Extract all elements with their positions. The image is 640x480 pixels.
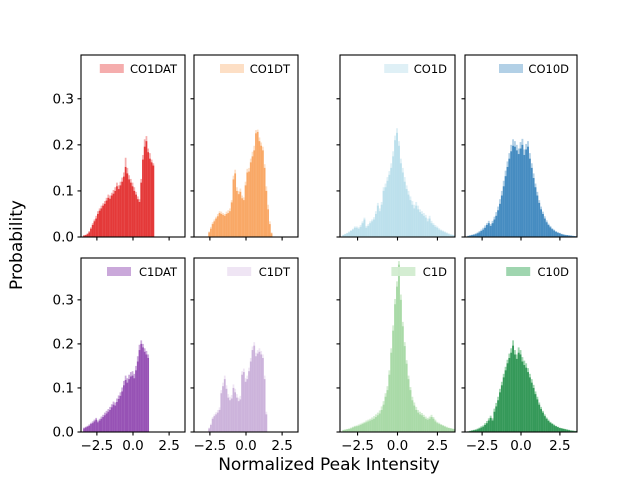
- histogram-bar: [548, 421, 550, 432]
- histogram-bar: [529, 159, 531, 237]
- histogram-bar: [381, 205, 383, 237]
- legend-swatch: [107, 267, 131, 276]
- histogram-bar: [266, 414, 268, 432]
- histogram-bar: [486, 225, 488, 237]
- histogram-bar: [507, 167, 509, 237]
- histogram-bar: [455, 236, 457, 237]
- histogram-bar: [255, 356, 257, 432]
- histogram-bar: [415, 410, 417, 432]
- histogram-bar: [527, 147, 529, 237]
- histogram-bar: [404, 182, 406, 237]
- histogram-bar: [356, 228, 358, 237]
- histogram-bar: [111, 196, 113, 237]
- histogram-bar: [238, 401, 240, 432]
- histogram-bar: [442, 231, 444, 237]
- legend-label: C1D: [423, 265, 447, 279]
- histogram-bar: [535, 394, 537, 432]
- histogram-bar: [538, 405, 540, 432]
- histogram-series-front: [342, 133, 457, 237]
- histogram-bar: [497, 210, 499, 237]
- histogram-bars: [342, 261, 457, 432]
- histogram-bar: [377, 206, 379, 237]
- histogram-bar: [557, 427, 559, 432]
- histogram-bar: [241, 375, 243, 432]
- histogram-bar: [151, 162, 153, 237]
- legend-label: C1DAT: [139, 265, 178, 279]
- x-tick-label: 2.5: [158, 438, 179, 454]
- x-tick-label: −2.5: [466, 438, 499, 454]
- histogram-bar: [413, 406, 415, 432]
- histogram-bar: [123, 177, 125, 237]
- histogram-series-front: [208, 346, 267, 432]
- histogram-bar: [259, 352, 261, 432]
- histogram-bar: [559, 428, 561, 432]
- histogram-bar: [425, 419, 427, 432]
- histogram-bar: [493, 412, 495, 432]
- histogram-series-front: [467, 145, 579, 237]
- histogram-bar: [215, 219, 217, 237]
- histogram-bar: [375, 214, 377, 237]
- histogram-bar: [92, 423, 94, 432]
- panel-c1dat: −2.50.02.50.00.10.20.3C1DAT: [53, 258, 185, 454]
- histogram-bar: [106, 414, 108, 433]
- histogram-bar: [480, 231, 482, 237]
- histogram-bar: [495, 406, 497, 432]
- histogram-bar: [488, 421, 490, 432]
- histogram-bar: [125, 380, 127, 432]
- histogram-bar: [101, 208, 103, 237]
- histogram-bar: [90, 229, 92, 237]
- histogram-bar: [246, 172, 248, 237]
- histogram-bar: [266, 191, 268, 237]
- panel-co1dt: CO1DT: [191, 55, 299, 241]
- histogram-bar: [520, 354, 522, 432]
- histogram-bar: [406, 189, 408, 237]
- histogram-bar: [97, 214, 99, 237]
- histogram-bar: [367, 421, 369, 432]
- histogram-bar: [455, 430, 457, 432]
- histogram-bar: [525, 149, 527, 237]
- histogram-bar: [95, 420, 97, 432]
- histogram-bar: [101, 419, 103, 432]
- histogram-bar: [377, 415, 379, 432]
- histogram-bar: [116, 402, 118, 432]
- histogram-bar: [493, 219, 495, 237]
- histogram-bars: [342, 128, 457, 237]
- histogram-bar: [362, 223, 364, 237]
- histogram-bar: [210, 229, 212, 237]
- histogram-bar: [352, 230, 354, 237]
- histogram-bar: [118, 399, 120, 432]
- histogram-bar: [495, 216, 497, 237]
- histogram-bar: [367, 226, 369, 237]
- histogram-bar: [508, 159, 510, 237]
- histogram-series-front: [342, 265, 457, 432]
- histogram-bar: [109, 199, 111, 237]
- histogram-bar: [137, 199, 139, 237]
- histogram-bar: [106, 201, 108, 237]
- histogram-bar: [144, 352, 146, 432]
- histogram-bar: [497, 400, 499, 432]
- histogram-bar: [514, 354, 516, 432]
- legend-swatch: [506, 267, 530, 276]
- histogram-bar: [555, 232, 557, 237]
- legend-label: CO1D: [414, 62, 447, 76]
- histogram-bar: [104, 415, 106, 432]
- histogram-bars: [208, 342, 267, 432]
- histogram-bar: [92, 225, 94, 237]
- histogram-bar: [431, 417, 433, 432]
- histogram-bar: [214, 416, 216, 432]
- histogram-bar: [419, 414, 421, 432]
- histogram-bar: [488, 223, 490, 237]
- histogram-bar: [219, 213, 221, 237]
- histogram-bar: [97, 422, 99, 432]
- histogram-bar: [417, 209, 419, 237]
- histogram-bar: [224, 379, 226, 432]
- y-axis-title: Probability: [7, 200, 27, 290]
- histogram-bar: [503, 186, 505, 237]
- histogram-bar: [383, 405, 385, 432]
- histogram-bar: [448, 428, 450, 432]
- histogram-bar: [385, 187, 387, 237]
- x-tick-label: 2.5: [427, 438, 448, 454]
- histogram-bar: [492, 421, 494, 432]
- histogram-bar: [133, 378, 135, 432]
- histogram-bar: [440, 425, 442, 432]
- histogram-bar: [427, 221, 429, 237]
- histogram-bar: [477, 233, 479, 237]
- histogram-bar: [548, 225, 550, 237]
- panel-c10d: −2.50.02.5C10D: [462, 258, 580, 454]
- histogram-bar: [434, 421, 436, 432]
- histogram-bar: [229, 211, 231, 237]
- y-tick-label: 0.0: [53, 425, 74, 441]
- histogram-bar: [540, 409, 542, 432]
- histogram-bar: [233, 388, 235, 432]
- histogram-bar: [245, 185, 247, 237]
- histogram-bar: [95, 219, 97, 237]
- histogram-bar: [429, 419, 431, 432]
- histogram-bar: [241, 198, 243, 237]
- histogram-bar: [436, 228, 438, 237]
- x-tick-label: −2.5: [80, 438, 113, 454]
- x-tick-label: 0.0: [235, 438, 256, 454]
- histogram-bar: [508, 358, 510, 432]
- histogram-bar: [542, 413, 544, 432]
- histogram-bar: [518, 154, 520, 237]
- histogram-bar: [354, 427, 356, 432]
- legend-swatch: [384, 64, 408, 73]
- histogram-bar: [111, 407, 113, 432]
- histogram-bar: [400, 300, 402, 432]
- histogram-bar: [139, 202, 141, 237]
- histogram-bar: [132, 186, 134, 237]
- histogram-bar: [553, 425, 555, 432]
- histogram-bar: [432, 225, 434, 237]
- histogram-bar: [549, 423, 551, 432]
- histogram-bar: [507, 363, 509, 432]
- histogram-bar: [415, 206, 417, 237]
- histogram-bar: [411, 400, 413, 432]
- histogram-bar: [243, 372, 245, 432]
- histogram-bar: [417, 413, 419, 432]
- histogram-bar: [411, 205, 413, 237]
- histogram-bar: [128, 379, 130, 432]
- legend-swatch: [227, 267, 251, 276]
- histogram-bar: [388, 175, 390, 237]
- legend-label: CO1DAT: [130, 62, 178, 76]
- histogram-bar: [499, 392, 501, 432]
- histogram-bar: [240, 399, 242, 432]
- histogram-bar: [121, 182, 123, 237]
- histogram-bar: [444, 427, 446, 432]
- histogram-bar: [137, 362, 139, 432]
- histogram-bar: [559, 233, 561, 237]
- histogram-bar: [516, 359, 518, 432]
- legend-swatch: [391, 267, 415, 276]
- panel-c1dt: −2.50.02.5C1DT: [191, 258, 299, 454]
- histogram-bar: [484, 228, 486, 237]
- histogram-bar: [482, 427, 484, 432]
- histogram-bar: [544, 219, 546, 237]
- histogram-bar: [551, 424, 553, 432]
- legend-label: C1DT: [259, 265, 291, 279]
- histogram-bar: [130, 183, 132, 237]
- y-tick-label: 0.1: [53, 380, 74, 396]
- histogram-bar: [234, 173, 236, 237]
- histogram-bar: [379, 414, 381, 433]
- histogram-bar: [482, 230, 484, 237]
- histogram-bar: [484, 425, 486, 432]
- histogram-bar: [140, 344, 142, 432]
- histogram-bar: [208, 232, 210, 237]
- histogram-bar: [438, 230, 440, 237]
- histogram-bar: [385, 397, 387, 432]
- histogram-bar: [373, 219, 375, 237]
- histogram-bar: [262, 358, 264, 432]
- histogram-bar: [257, 354, 259, 432]
- histogram-bar: [358, 426, 360, 432]
- histogram-bar: [87, 427, 89, 432]
- histogram-bar: [479, 232, 481, 237]
- histogram-bar: [431, 223, 433, 237]
- x-tick-label: 2.5: [549, 438, 570, 454]
- histogram-bar: [140, 183, 142, 237]
- histogram-bar: [252, 350, 254, 432]
- histogram-bar: [444, 232, 446, 237]
- y-tick-label: 0.0: [53, 230, 74, 246]
- histogram-bar: [423, 417, 425, 432]
- histogram-bar: [243, 200, 245, 237]
- histogram-bar: [142, 347, 144, 432]
- histogram-bar: [248, 172, 250, 237]
- histogram-bar: [455, 429, 457, 432]
- histogram-bar: [127, 383, 129, 432]
- x-tick-label: 0.0: [122, 438, 143, 454]
- legend-label: C10D: [537, 265, 569, 279]
- histogram-bar: [236, 398, 238, 432]
- histogram-bar: [109, 410, 111, 432]
- histogram-bar: [226, 214, 228, 237]
- histogram-bar: [144, 147, 146, 237]
- histogram-bar: [88, 426, 90, 432]
- histogram-bar: [520, 149, 522, 237]
- histogram-bar: [227, 213, 229, 237]
- histogram-bar: [396, 133, 398, 237]
- histogram-bars: [208, 130, 272, 237]
- histogram-bar: [518, 353, 520, 432]
- histogram-bar: [236, 191, 238, 237]
- histogram-bar: [553, 231, 555, 237]
- histogram-bar: [523, 365, 525, 432]
- histogram-bar: [231, 202, 233, 237]
- histogram-bar: [219, 410, 221, 432]
- histogram-bar: [212, 419, 214, 432]
- histogram-bar: [536, 399, 538, 432]
- histogram-bar: [421, 214, 423, 237]
- histogram-bar: [402, 326, 404, 432]
- histogram-bar: [147, 358, 149, 432]
- histogram-bar: [139, 350, 141, 432]
- histogram-bar: [536, 196, 538, 237]
- x-tick-label: 2.5: [271, 438, 292, 454]
- histogram-bar: [446, 233, 448, 237]
- y-tick-label: 0.2: [53, 336, 74, 352]
- histogram-bar: [220, 214, 222, 237]
- histogram-bar: [114, 406, 116, 432]
- histogram-bar: [102, 417, 104, 432]
- histogram-bar: [153, 166, 155, 237]
- histogram-bar: [371, 221, 373, 237]
- y-tick-label: 0.3: [53, 91, 74, 107]
- histogram-bar: [146, 141, 148, 237]
- histogram-bar: [360, 227, 362, 237]
- histogram-bar: [505, 176, 507, 237]
- histogram-bar: [555, 426, 557, 432]
- histogram-bar: [269, 224, 271, 237]
- histogram-bar: [215, 414, 217, 432]
- histogram-bar: [356, 426, 358, 432]
- histogram-bar: [267, 209, 269, 237]
- histogram-bar: [521, 145, 523, 237]
- histogram-bar: [350, 231, 352, 237]
- histogram-bar: [352, 428, 354, 432]
- histogram-bar: [525, 368, 527, 432]
- histogram-bar: [252, 156, 254, 237]
- histogram-bar: [492, 223, 494, 237]
- histogram-bar: [245, 382, 247, 432]
- histogram-bar: [533, 178, 535, 237]
- y-tick-label: 0.2: [53, 137, 74, 153]
- histogram-bar: [210, 425, 212, 432]
- histogram-bar: [260, 354, 262, 432]
- histogram-bar: [217, 413, 219, 432]
- x-axis-title: Normalized Peak Intensity: [218, 455, 440, 475]
- histogram-bar: [514, 147, 516, 237]
- histogram-bar: [358, 229, 360, 237]
- histogram-bar: [402, 172, 404, 237]
- histogram-bar: [123, 385, 125, 432]
- histogram-bar: [85, 428, 87, 432]
- histogram-bar: [386, 390, 388, 432]
- histogram-bar: [107, 412, 109, 432]
- histogram-bar: [408, 379, 410, 432]
- histogram-bar: [113, 194, 115, 237]
- histogram-bar: [142, 160, 144, 237]
- histogram-bar: [438, 424, 440, 432]
- histogram-bar: [557, 233, 559, 237]
- histogram-bar: [577, 431, 579, 432]
- histogram-bar: [253, 150, 255, 237]
- histogram-bar: [486, 423, 488, 432]
- histogram-bar: [408, 195, 410, 237]
- histogram-bar: [250, 162, 252, 237]
- histogram-bar: [423, 216, 425, 237]
- histogram-bar: [544, 416, 546, 432]
- histogram-bar: [512, 146, 514, 237]
- histogram-bar: [363, 219, 365, 237]
- histogram-bar: [398, 146, 400, 237]
- histogram-bar: [394, 304, 396, 432]
- legend-swatch: [100, 64, 124, 73]
- histogram-bar: [505, 370, 507, 432]
- histogram-bars: [83, 136, 154, 237]
- histogram-bar: [94, 221, 96, 237]
- histogram-bar: [480, 428, 482, 432]
- histogram-bar: [133, 191, 135, 237]
- histogram-bars: [467, 139, 579, 237]
- histogram-bar: [440, 231, 442, 237]
- histogram-bar: [365, 228, 367, 237]
- histogram-bar: [362, 424, 364, 432]
- histogram-bar: [499, 204, 501, 237]
- histogram-bar: [510, 353, 512, 432]
- histogram-bar: [436, 423, 438, 432]
- histogram-grid-svg: 0.00.10.20.3CO1DATCO1DTCO1DCO10D−2.50.02…: [0, 0, 640, 480]
- histogram-bar: [386, 181, 388, 237]
- histogram-bar: [212, 224, 214, 237]
- histogram-series-front: [83, 344, 149, 432]
- histogram-bar: [262, 150, 264, 237]
- legend-swatch: [220, 64, 244, 73]
- histogram-bar: [222, 386, 224, 432]
- histogram-bar: [542, 214, 544, 237]
- histogram-bar: [400, 163, 402, 237]
- histogram-bar: [128, 179, 130, 237]
- histogram-bar: [409, 390, 411, 432]
- histogram-bar: [398, 265, 400, 432]
- histogram-bar: [130, 377, 132, 433]
- histogram-bar: [107, 198, 109, 237]
- histogram-bar: [227, 398, 229, 432]
- histogram-bar: [425, 218, 427, 237]
- histogram-bar: [248, 371, 250, 432]
- histogram-bar: [529, 377, 531, 432]
- histogram-bar: [512, 346, 514, 432]
- histogram-bar: [381, 410, 383, 432]
- histogram-bar: [120, 185, 122, 237]
- histogram-bar: [135, 370, 137, 432]
- histogram-bar: [360, 425, 362, 432]
- histogram-bar: [132, 376, 134, 432]
- histogram-bar: [375, 417, 377, 432]
- histogram-bar: [521, 362, 523, 432]
- histogram-bar: [413, 208, 415, 237]
- x-tick-label: −2.5: [341, 438, 374, 454]
- histogram-bar: [146, 354, 148, 432]
- histogram-bar: [549, 227, 551, 237]
